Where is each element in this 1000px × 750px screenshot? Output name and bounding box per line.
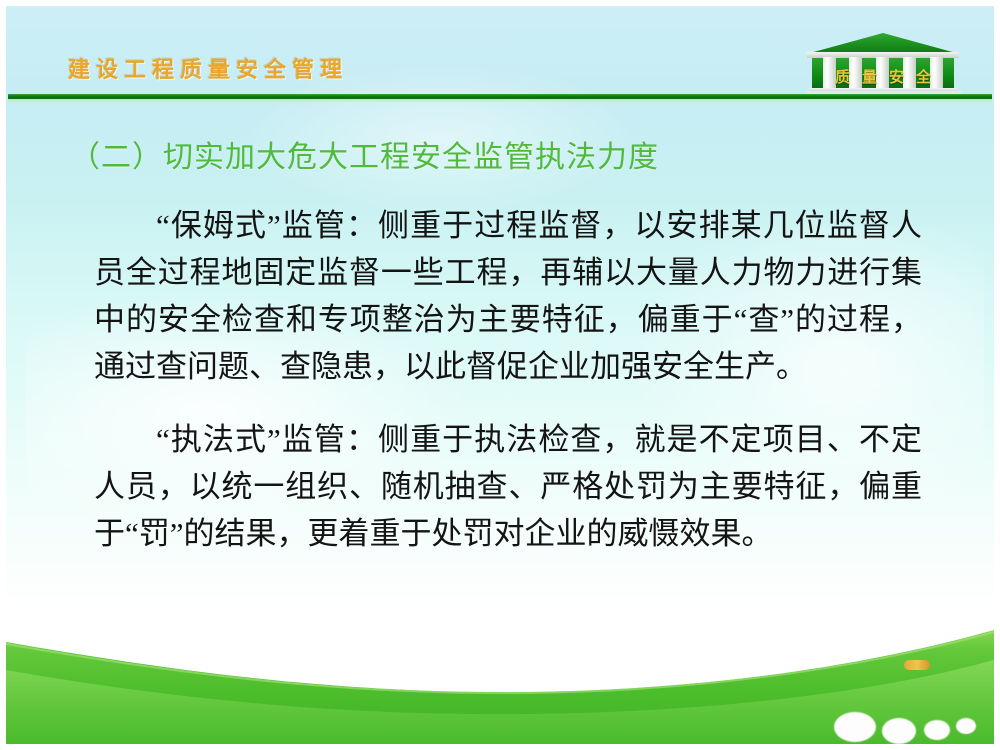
slide-title: （二）切实加大危大工程安全监管执法力度 bbox=[70, 132, 659, 176]
slide-content: （二）切实加大危大工程安全监管执法力度 “保姆式”监管：侧重于过程监督，以安排某… bbox=[6, 104, 994, 630]
sheep-decoration bbox=[956, 718, 976, 734]
header-title: 建设工程质量安全管理 bbox=[68, 52, 348, 84]
header-divider-glow bbox=[8, 99, 992, 103]
slide-header: 建设工程质量安全管理 bbox=[6, 6, 994, 100]
sheep-decoration bbox=[924, 720, 950, 740]
slide-body: “保姆式”监管：侧重于过程监督，以安排某几位监督人员全过程地固定监督一些工程，再… bbox=[94, 202, 922, 557]
quality-safety-building-logo: 质量安全 bbox=[804, 32, 962, 96]
flower-cluster-decoration bbox=[904, 660, 930, 670]
body-paragraph-1: “保姆式”监管：侧重于过程监督，以安排某几位监督人员全过程地固定监督一些工程，再… bbox=[94, 202, 922, 390]
body-paragraph-2: “执法式”监管：侧重于执法检查，就是不定项目、不定人员，以统一组织、随机抽查、严… bbox=[94, 416, 922, 557]
sheep-decoration bbox=[834, 712, 876, 742]
presentation-slide: 建设工程质量安全管理 bbox=[0, 0, 1000, 750]
sheep-decoration bbox=[882, 718, 916, 744]
